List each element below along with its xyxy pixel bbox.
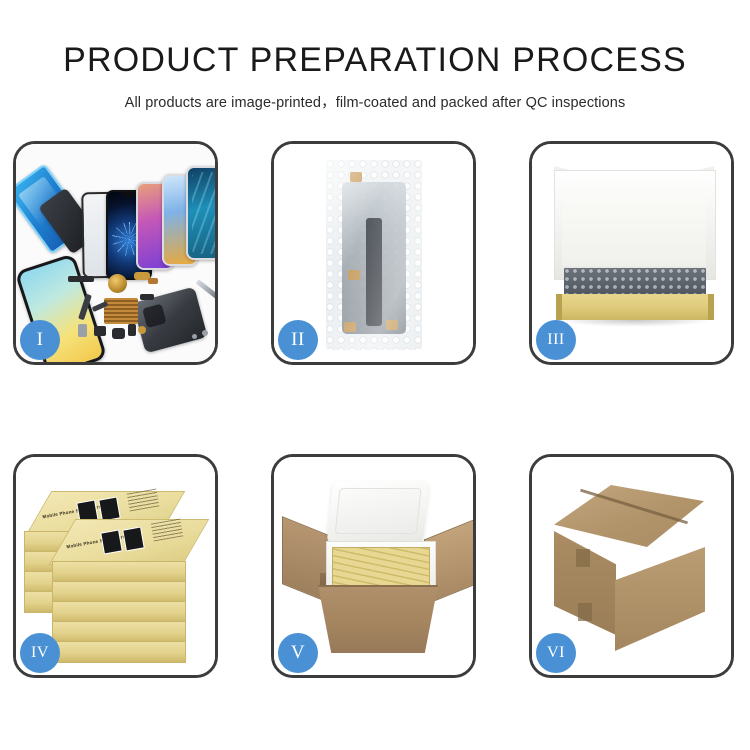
part-screw-2-icon [202,330,208,336]
logic-board-icon [104,298,138,324]
part-sim-tray-icon [128,324,136,336]
page-title: PRODUCT PREPARATION PROCESS [0,40,750,80]
phone-notch-icon [121,192,137,197]
carton-right-face-icon [615,547,705,651]
step-badge-5: V [278,633,318,673]
part-camera-icon [78,324,87,337]
phone-teal-icon [186,166,215,260]
part-screw-icon [138,326,146,334]
box-window-2-icon [98,497,121,522]
plastic-sheen-icon [326,160,422,350]
process-step-grid: I II [13,141,737,678]
box-window-4-icon [122,527,145,552]
product-preparation-infographic: PRODUCT PREPARATION PROCESS All products… [0,0,750,750]
part-connector-icon [148,278,158,284]
speaker-coil-icon [108,274,127,293]
process-step-panel-4: Mobile Phone Spare Parts Mobile Phone Sp… [13,454,218,678]
part-screw-3-icon [192,334,197,339]
header: PRODUCT PREPARATION PROCESS All products… [0,40,750,112]
process-step-panel-2: II [271,141,476,365]
process-step-panel-1: I [13,141,218,365]
process-step-panel-6: VI [529,454,734,678]
stack-box-front-4 [52,621,186,643]
box-shadow-icon [558,320,712,327]
stack-box-front-2 [52,581,186,603]
part-chip-icon [140,294,154,300]
process-step-panel-3: III [529,141,734,365]
stack-box-front-1 [52,561,186,583]
part-module-icon [94,326,106,336]
step-badge-4: IV [20,633,60,673]
part-button-icon [112,328,125,339]
stack-box-front-5 [52,641,186,663]
part-earpiece-icon [68,276,94,282]
carton-tape-patch-2-icon [578,603,592,621]
page-subtitle: All products are image-printed，film-coat… [0,91,750,112]
carton-tape-patch-1-icon [576,549,590,567]
box-tray-edges-icon [556,294,714,320]
foam-sheet-icon [562,182,706,266]
step-badge-3: III [536,320,576,360]
screwdriver-icon [196,279,215,301]
carton-front-face-icon [318,585,438,653]
step-badge-2: II [278,320,318,360]
stack-box-front-3 [52,601,186,623]
box-window-3-icon [100,530,123,555]
process-step-panel-5: V [271,454,476,678]
packed-yellow-boxes-icon [332,547,430,589]
bubble-wrap-bag-icon [326,160,422,350]
step-badge-1: I [20,320,60,360]
foam-cooler-lid-icon [327,481,430,543]
carton-top-face-icon [554,485,704,547]
step-badge-6: VI [536,633,576,673]
